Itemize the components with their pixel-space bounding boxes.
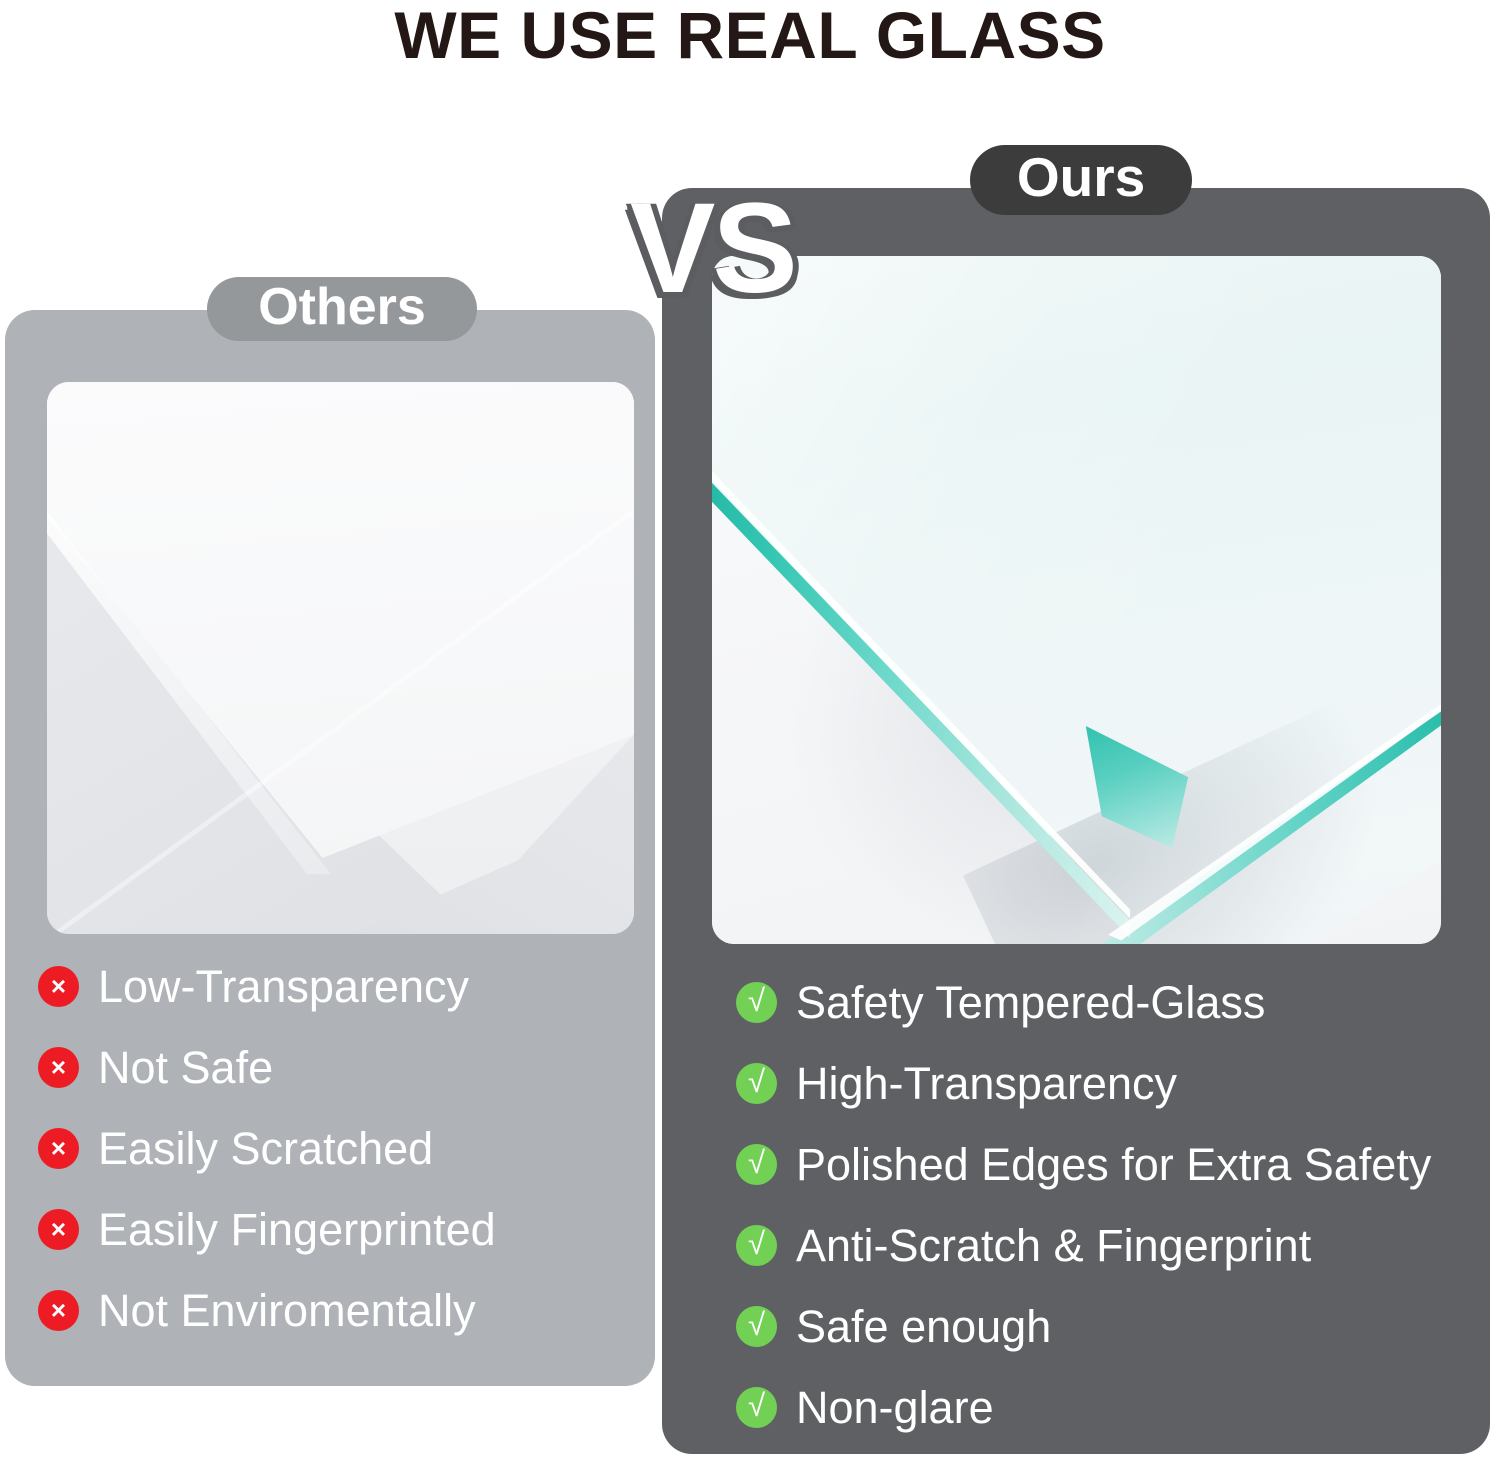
check-icon-glyph: √ — [748, 985, 765, 1016]
list-item: × Not Enviromentally — [38, 1270, 638, 1351]
list-item: √ Polished Edges for Extra Safety — [736, 1124, 1476, 1205]
ours-product-photo — [712, 256, 1441, 944]
list-item: × Low-Transparency — [38, 946, 638, 1027]
check-icon: √ — [736, 982, 777, 1023]
check-icon: √ — [736, 1306, 777, 1347]
list-item: √ Safety Tempered-Glass — [736, 962, 1476, 1043]
others-label-badge: Others — [207, 277, 477, 341]
cross-icon: × — [38, 1047, 79, 1088]
ours-feature-label: Anti-Scratch & Fingerprint — [796, 1223, 1311, 1268]
cross-icon-glyph: × — [51, 1297, 66, 1323]
list-item: × Easily Fingerprinted — [38, 1189, 638, 1270]
check-icon: √ — [736, 1225, 777, 1266]
cross-icon: × — [38, 966, 79, 1007]
ours-label-badge: Ours — [970, 145, 1192, 215]
check-icon: √ — [736, 1387, 777, 1428]
list-item: √ Safe enough — [736, 1286, 1476, 1367]
cross-icon-glyph: × — [51, 1135, 66, 1161]
check-icon-glyph: √ — [748, 1066, 765, 1097]
others-feature-list: × Low-Transparency × Not Safe × Easily S… — [38, 946, 638, 1351]
others-sheet-seam-highlight — [47, 510, 634, 934]
check-icon: √ — [736, 1063, 777, 1104]
cross-icon-glyph: × — [51, 1054, 66, 1080]
ours-feature-label: Safety Tempered-Glass — [796, 980, 1265, 1025]
check-icon-glyph: √ — [748, 1390, 765, 1421]
ours-feature-label: High-Transparency — [796, 1061, 1177, 1106]
cross-icon: × — [38, 1128, 79, 1169]
list-item: √ High-Transparency — [736, 1043, 1476, 1124]
others-product-photo — [47, 382, 634, 934]
check-icon: √ — [736, 1144, 777, 1185]
others-feature-label: Low-Transparency — [98, 964, 469, 1009]
cross-icon: × — [38, 1209, 79, 1250]
others-feature-label: Easily Fingerprinted — [98, 1207, 496, 1252]
ours-feature-label: Safe enough — [796, 1304, 1051, 1349]
list-item: √ Non-glare — [736, 1367, 1476, 1448]
list-item: × Not Safe — [38, 1027, 638, 1108]
cross-icon: × — [38, 1290, 79, 1331]
list-item: × Easily Scratched — [38, 1108, 638, 1189]
cross-icon-glyph: × — [51, 973, 66, 999]
check-icon-glyph: √ — [748, 1147, 765, 1178]
ours-feature-list: √ Safety Tempered-Glass √ High-Transpare… — [736, 962, 1476, 1448]
others-feature-label: Not Enviromentally — [98, 1288, 476, 1333]
list-item: √ Anti-Scratch & Fingerprint — [736, 1205, 1476, 1286]
cross-icon-glyph: × — [51, 1216, 66, 1242]
check-icon-glyph: √ — [748, 1228, 765, 1259]
comparison-infographic: WE USE REAL GLASS Others × Low-Transpare… — [0, 0, 1500, 1462]
page-title: WE USE REAL GLASS — [0, 0, 1500, 72]
others-feature-label: Easily Scratched — [98, 1126, 433, 1171]
check-icon-glyph: √ — [748, 1309, 765, 1340]
ours-feature-label: Polished Edges for Extra Safety — [796, 1142, 1431, 1187]
ours-feature-label: Non-glare — [796, 1385, 994, 1430]
versus-label: VS — [630, 185, 795, 313]
others-feature-label: Not Safe — [98, 1045, 273, 1090]
